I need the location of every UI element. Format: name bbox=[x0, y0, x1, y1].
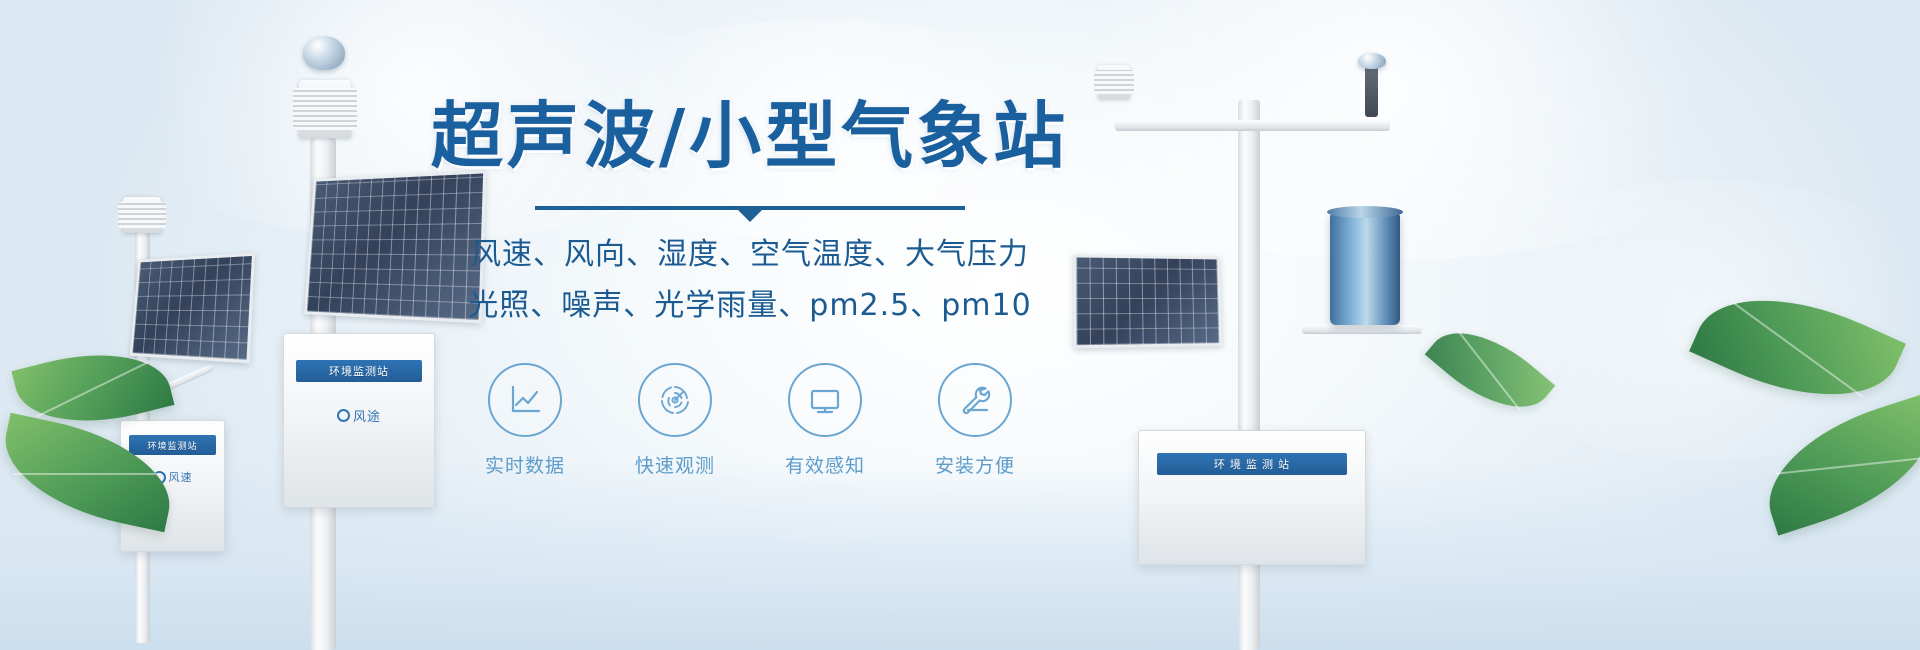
leaf-vein bbox=[1730, 299, 1864, 397]
product-banner: 环境监测站 风速 环境监测站 风途 环 境 监 测 bbox=[0, 0, 1920, 650]
feature-item-easy-install[interactable]: 安装方便 bbox=[920, 363, 1030, 478]
weather-station-right: 环 境 监 测 站 bbox=[1060, 45, 1420, 650]
cabinet-label: 环境监测站 bbox=[129, 435, 216, 455]
brand-text: 风速 bbox=[169, 469, 193, 485]
feature-label: 安装方便 bbox=[920, 451, 1030, 478]
monitor-display-icon bbox=[805, 380, 845, 420]
cabinet-label: 环 境 监 测 站 bbox=[1157, 453, 1347, 475]
optical-rain-gauge bbox=[1330, 213, 1400, 325]
leaf-vein bbox=[1775, 457, 1920, 475]
solar-panel bbox=[1073, 254, 1222, 348]
brand-logo: 风途 bbox=[337, 406, 381, 425]
ultrasonic-sensor-head bbox=[299, 80, 351, 138]
solar-panel bbox=[130, 253, 255, 364]
feature-label: 快速观测 bbox=[620, 451, 730, 478]
banner-title: 超声波/小型气象站 bbox=[430, 100, 1070, 172]
title-divider bbox=[535, 206, 965, 210]
cabinet-label: 环境监测站 bbox=[296, 360, 422, 382]
mast-pole bbox=[1238, 100, 1260, 650]
feature-item-realtime-data[interactable]: 实时数据 bbox=[470, 363, 580, 478]
anemometer-cap bbox=[1358, 53, 1386, 69]
banner-content: 超声波/小型气象站 风速、风向、湿度、空气温度、大气压力 光照、噪声、光学雨量、… bbox=[430, 100, 1070, 478]
ultrasonic-sensor-head bbox=[123, 197, 161, 233]
radiation-dome-sensor bbox=[303, 36, 345, 70]
line-chart-icon bbox=[505, 380, 545, 420]
banner-subtitle-line-1: 风速、风向、湿度、空气温度、大气压力 bbox=[430, 232, 1070, 279]
ultrasonic-sensor-head bbox=[1098, 65, 1130, 99]
feature-icon-circle bbox=[788, 363, 862, 437]
decorative-leaf bbox=[1689, 264, 1906, 430]
leaf-vein bbox=[36, 360, 150, 417]
feature-label: 有效感知 bbox=[770, 451, 880, 478]
feature-label: 实时数据 bbox=[470, 451, 580, 478]
banner-subtitle-line-2: 光照、噪声、光学雨量、pm2.5、pm10 bbox=[430, 283, 1070, 330]
feature-item-effective-sensing[interactable]: 有效感知 bbox=[770, 363, 880, 478]
decorative-leaf bbox=[1425, 308, 1555, 431]
wrench-tool-icon bbox=[955, 380, 995, 420]
radar-observation-icon bbox=[655, 380, 695, 420]
rain-gauge-shelf bbox=[1302, 325, 1422, 334]
feature-icon-circle bbox=[488, 363, 562, 437]
leaf-vein bbox=[14, 472, 161, 474]
feature-list: 实时数据 bbox=[430, 363, 1070, 478]
brand-text: 风途 bbox=[353, 406, 381, 425]
feature-item-fast-observation[interactable]: 快速观测 bbox=[620, 363, 730, 478]
leaf-vein bbox=[1458, 330, 1522, 411]
brand-mark-icon bbox=[337, 409, 350, 422]
feature-icon-circle bbox=[938, 363, 1012, 437]
equipment-cabinet: 环境监测站 风途 bbox=[283, 333, 435, 508]
equipment-cabinet: 环 境 监 测 站 bbox=[1138, 430, 1366, 565]
crossarm bbox=[1115, 120, 1390, 131]
feature-icon-circle bbox=[638, 363, 712, 437]
